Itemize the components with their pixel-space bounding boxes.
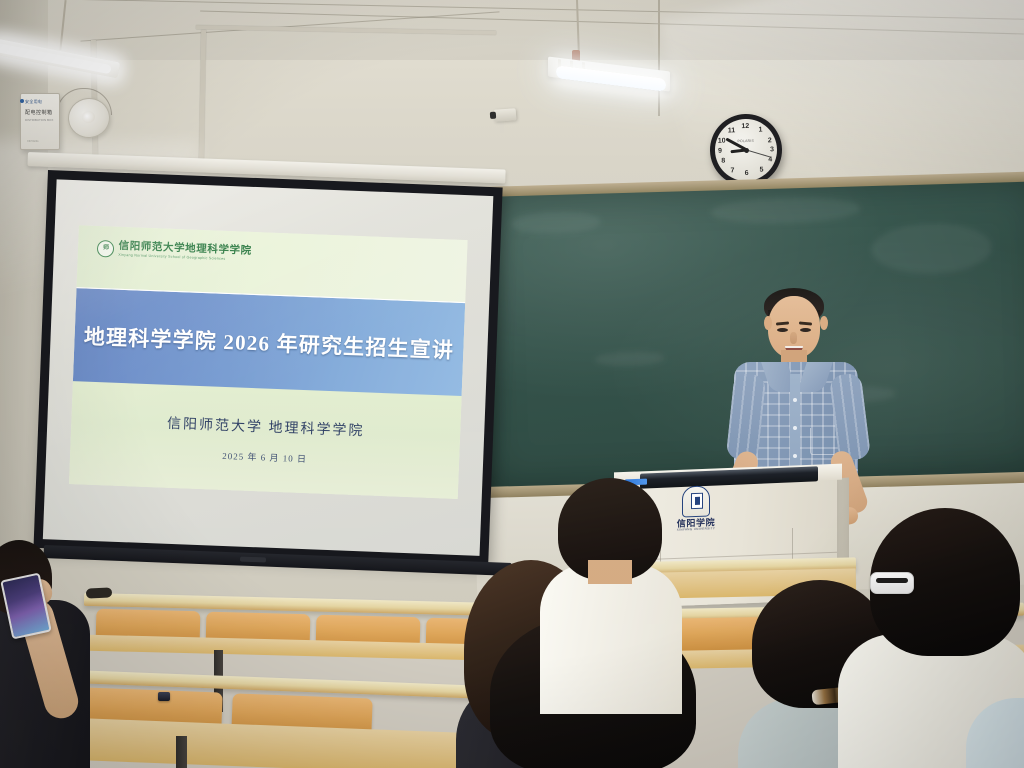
crest-inner-mark (691, 493, 703, 509)
slide-title-band: 地理科学学院 2026 年研究生招生宣讲 (73, 287, 465, 397)
clock-face: POLARIS 12 1 2 3 4 5 6 7 8 9 10 11 (714, 118, 778, 182)
clock-numeral: 6 (741, 169, 751, 179)
clock-numeral: 1 (755, 125, 765, 135)
light-cord-secondary (658, 0, 660, 116)
electrical-panel-box[interactable]: 安全用电 配电控制箱 DISTRIBUTION BOX XINYANG (20, 93, 60, 150)
ceiling-light (548, 0, 678, 120)
clock-numeral: 12 (740, 122, 750, 132)
presentation-slide: 师 信阳师范大学地理科学学院 Xinyang Normal University… (69, 225, 468, 499)
person-torso (540, 564, 682, 714)
presenter-nose (790, 332, 797, 344)
clock-numeral: 7 (727, 166, 737, 176)
light-cord (576, 0, 580, 56)
clock-numeral: 5 (756, 165, 766, 175)
person-right-light-blue (966, 690, 1024, 768)
presentation-clicker[interactable] (158, 692, 170, 701)
white-barrette (870, 572, 914, 594)
panel-label-text: 配电控制箱 (25, 109, 53, 116)
seal-glyph: 师 (103, 245, 109, 251)
presenter-eye-right (800, 328, 811, 332)
desk-leg (176, 736, 187, 768)
panel-brand-text: 安全用电 (25, 99, 42, 105)
wall-camera-icon (494, 108, 517, 122)
clock-brand-text: POLARIS (737, 139, 754, 143)
slide-subtitle: 信阳师范大学 地理科学学院 (167, 413, 365, 441)
projection-surface: 师 信阳师范大学地理科学学院 Xinyang Normal University… (43, 179, 493, 556)
department-logo: 师 信阳师范大学地理科学学院 Xinyang Normal University… (97, 240, 252, 263)
presenter-ear-right (820, 316, 828, 330)
desk-front-panel (69, 718, 500, 768)
person-torso (966, 698, 1024, 768)
person-neck (588, 560, 632, 584)
presenter-eye-left (777, 328, 788, 332)
presenter-ear-left (764, 316, 772, 330)
crest-shield-icon (682, 485, 710, 517)
slide-lower-band: 信阳师范大学 地理科学学院 2025 年 6 月 10 日 (69, 381, 462, 500)
projector-screen-handle[interactable] (240, 557, 266, 563)
university-seal-icon: 师 (97, 240, 115, 258)
clock-numeral: 11 (726, 126, 736, 136)
classroom-scene: 安全用电 配电控制箱 DISTRIBUTION BOX XINYANG POLA… (0, 0, 1024, 768)
clock-numeral: 3 (767, 145, 777, 155)
clock-numeral: 8 (718, 156, 728, 166)
person-white-shirt (536, 478, 686, 708)
person-left-black-top (0, 540, 110, 768)
panel-footer-text: XINYANG (27, 140, 38, 143)
clock-center-pin (743, 147, 748, 152)
panel-sub-text: DISTRIBUTION BOX (25, 118, 53, 122)
clock-numeral: 9 (715, 147, 725, 157)
slide-title: 地理科学学院 2026 年研究生招生宣讲 (83, 320, 454, 364)
slide-date: 2025 年 6 月 10 日 (222, 449, 307, 465)
projector-screen[interactable]: 师 信阳师范大学地理科学学院 Xinyang Normal University… (33, 170, 502, 565)
panel-logo-icon (20, 99, 24, 103)
